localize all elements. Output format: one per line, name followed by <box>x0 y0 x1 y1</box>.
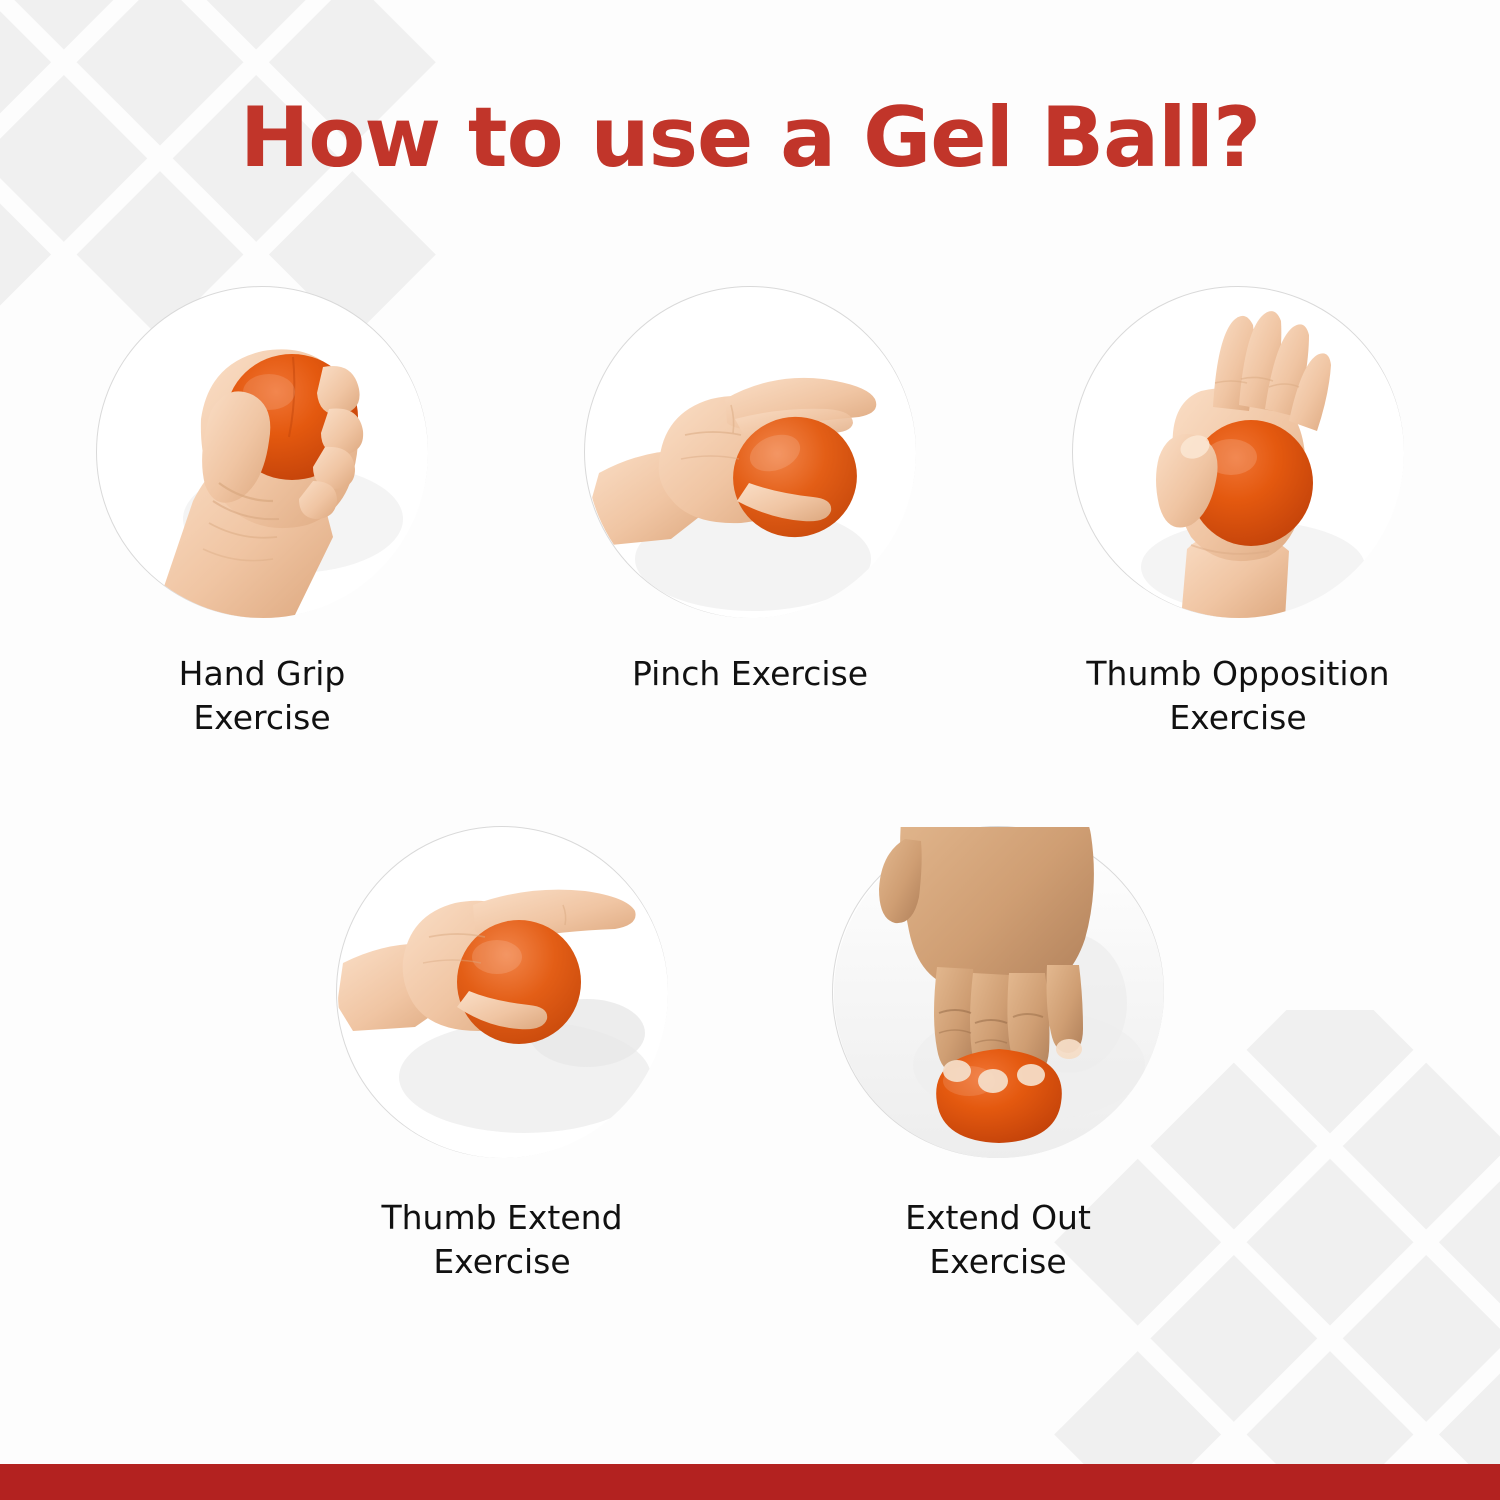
caption-line-2: Exercise <box>1086 696 1389 740</box>
exercise-caption-thumb-extend: Thumb Extend Exercise <box>381 1196 622 1283</box>
exercise-caption-hand-grip: Hand Grip Exercise <box>179 652 346 739</box>
caption-line-1: Thumb Extend <box>381 1196 622 1240</box>
exercise-row-top: Hand Grip Exercise <box>0 286 1500 739</box>
exercise-photo-pinch <box>584 286 916 618</box>
poster-title-wrap: How to use a Gel Ball? <box>0 96 1500 179</box>
exercise-photo-hand-grip <box>96 286 428 618</box>
pinch-illustration <box>585 287 917 619</box>
extend-out-illustration <box>833 827 1165 1159</box>
exercise-photo-thumb-extend <box>336 826 668 1158</box>
thumb-extend-illustration <box>337 827 669 1159</box>
exercise-photo-thumb-opposition <box>1072 286 1404 618</box>
exercise-caption-extend-out: Extend Out Exercise <box>905 1196 1091 1283</box>
exercise-card-thumb-extend[interactable]: Thumb Extend Exercise <box>254 826 750 1283</box>
caption-line-2: Exercise <box>905 1240 1091 1284</box>
exercise-card-hand-grip[interactable]: Hand Grip Exercise <box>18 286 506 739</box>
page-title: How to use a Gel Ball? <box>240 96 1260 179</box>
bottom-accent-bar <box>0 1464 1500 1500</box>
exercise-photo-extend-out <box>832 826 1164 1158</box>
exercise-caption-pinch: Pinch Exercise <box>632 652 868 696</box>
thumb-opposition-illustration <box>1073 287 1405 619</box>
caption-line-1: Extend Out <box>905 1196 1091 1240</box>
caption-line-1: Hand Grip <box>179 652 346 696</box>
exercise-card-thumb-opposition[interactable]: Thumb Opposition Exercise <box>994 286 1482 739</box>
caption-line-2: Exercise <box>381 1240 622 1284</box>
caption-line-1: Thumb Opposition <box>1086 652 1389 696</box>
infographic-poster: How to use a Gel Ball? <box>0 0 1500 1500</box>
exercise-row-bottom: Thumb Extend Exercise <box>0 826 1500 1283</box>
hand-grip-illustration <box>97 287 429 619</box>
caption-line-1: Pinch Exercise <box>632 652 868 696</box>
exercise-caption-thumb-opposition: Thumb Opposition Exercise <box>1086 652 1389 739</box>
exercise-card-extend-out[interactable]: Extend Out Exercise <box>750 826 1246 1283</box>
caption-line-2: Exercise <box>179 696 346 740</box>
exercise-card-pinch[interactable]: Pinch Exercise <box>506 286 994 739</box>
